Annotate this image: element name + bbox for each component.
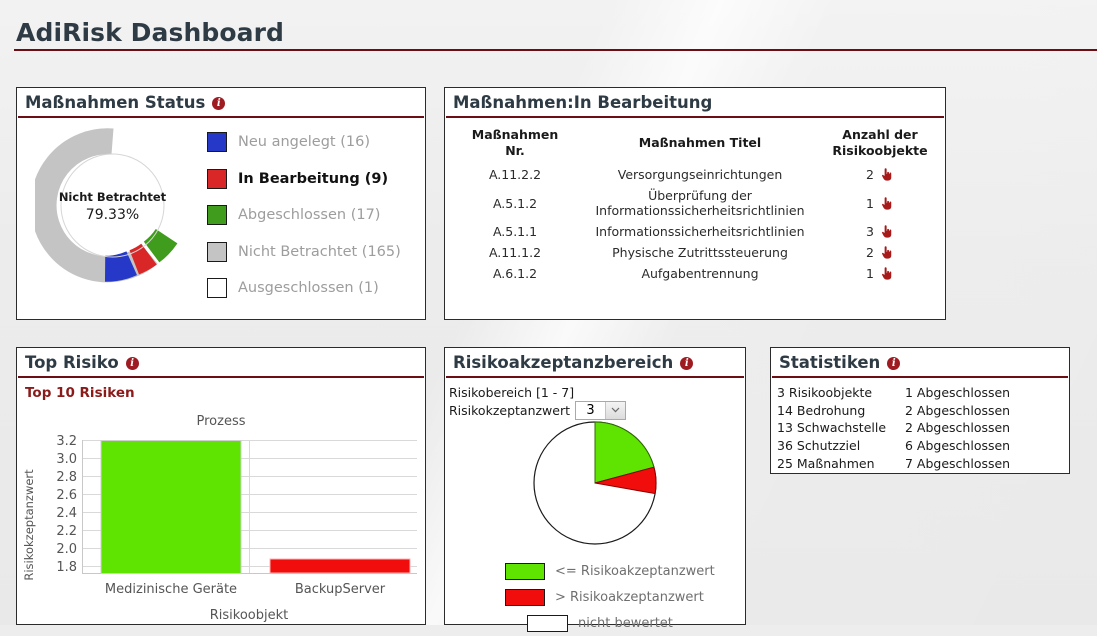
stats-left: 13 Schwachstelle <box>777 420 905 435</box>
info-icon[interactable]: i <box>126 357 139 370</box>
measures-table-head: Maßnahmen Nr. Maßnahmen Titel Anzahl der… <box>445 118 945 164</box>
stats-row-schutzziel: 36 Schutzziel 6 Abgeschlossen <box>777 437 1069 455</box>
bar-chart-ylabel: Risikokzeptanzwert <box>22 469 36 581</box>
column-header-line: Maßnahmen Titel <box>585 135 815 151</box>
xtick: BackupServer <box>295 582 386 597</box>
ytick: 2.2 <box>56 524 77 539</box>
cell-titel: Überprüfung der Informationssicherheitsr… <box>585 185 815 221</box>
bar-chart-xlabel: Risikoobjekt <box>210 608 289 623</box>
donut-segment-abgeschlossen[interactable] <box>152 236 167 252</box>
legend-item-le-akzeptanzwert[interactable]: <= Risikoakzeptanzwert <box>445 558 745 584</box>
ytick: 1.8 <box>56 560 77 575</box>
header-divider <box>14 49 1097 51</box>
risikoakzeptanzwert-row: Risikokzeptanzwert 3 <box>449 401 745 419</box>
cell-titel: Versorgungseinrichtungen <box>585 164 815 185</box>
stats-right: 6 Abgeschlossen <box>905 438 1010 453</box>
count-with-hand: 2 <box>866 167 894 182</box>
panel-massnahmen-in-bearbeitung: Maßnahmen:In Bearbeitung Maßnahmen Nr. M… <box>444 87 946 320</box>
ytick: 2.6 <box>56 488 77 503</box>
page-title: AdiRisk Dashboard <box>16 18 284 47</box>
legend-item-in-bearbeitung[interactable]: In Bearbeitung (9) <box>207 161 422 198</box>
ytick: 2.8 <box>56 470 77 485</box>
legend-swatch <box>505 589 545 606</box>
cell-nr: A.11.1.2 <box>445 242 585 263</box>
donut-svg <box>35 128 190 283</box>
cell-anzahl: 1 <box>815 263 945 284</box>
stats-left: 36 Schutzziel <box>777 438 905 453</box>
ytick: 2.4 <box>56 506 77 521</box>
panel-title-statistiken: Statistiken i <box>771 348 1069 376</box>
count-with-hand: 1 <box>866 196 894 211</box>
count-with-hand: 1 <box>866 266 894 281</box>
panel-title-text: Maßnahmen Status <box>25 93 205 112</box>
count-value: 2 <box>866 167 874 182</box>
info-icon[interactable]: i <box>887 357 900 370</box>
legend-label: nicht bewertet <box>578 616 673 631</box>
hand-pointer-icon[interactable] <box>879 245 894 260</box>
column-header-titel: Maßnahmen Titel <box>585 118 815 164</box>
count-value: 1 <box>866 266 874 281</box>
hand-pointer-icon[interactable] <box>879 266 894 281</box>
donut-segment-in-bearbeitung[interactable] <box>134 254 149 262</box>
risikobereich-row: Risikobereich [1 - 7] <box>449 383 745 401</box>
risikobereich-label: Risikobereich [1 - 7] <box>449 385 574 400</box>
legend-swatch <box>505 563 545 580</box>
legend-label: > Risikoakzeptanzwert <box>555 590 704 605</box>
legend-swatch <box>207 242 227 262</box>
bar-backupserver[interactable] <box>270 559 410 573</box>
panel-title-text: Top Risiko <box>25 353 119 372</box>
cell-anzahl: 3 <box>815 221 945 242</box>
cell-nr: A.5.1.1 <box>445 221 585 242</box>
stats-row-bedrohung: 14 Bedrohung 2 Abgeschlossen <box>777 402 1069 420</box>
stats-right: 7 Abgeschlossen <box>905 456 1010 471</box>
status-legend: Neu angelegt (16) In Bearbeitung (9) Abg… <box>207 124 422 307</box>
table-row[interactable]: A.11.2.2 Versorgungseinrichtungen 2 <box>445 164 945 185</box>
count-value: 2 <box>866 245 874 260</box>
panel-title-massnahmen-status: Maßnahmen Status i <box>17 88 425 116</box>
legend-swatch <box>207 278 227 298</box>
ytick: 3.2 <box>56 434 77 449</box>
column-header-line: Anzahl der <box>815 127 945 143</box>
table-row[interactable]: A.11.1.2 Physische Zutrittssteuerung 2 <box>445 242 945 263</box>
panel-title-massnahmen-in-bearbeitung: Maßnahmen:In Bearbeitung <box>445 88 945 116</box>
hand-pointer-icon[interactable] <box>879 196 894 211</box>
panel-risikoakzeptanzbereich: Risikoakzeptanzbereich i Risikobereich [… <box>444 347 746 625</box>
cell-anzahl: 2 <box>815 242 945 263</box>
table-row[interactable]: A.5.1.1 Informationssicherheitsrichtlini… <box>445 221 945 242</box>
table-header-row: Maßnahmen Nr. Maßnahmen Titel Anzahl der… <box>445 118 945 164</box>
count-value: 3 <box>866 224 874 239</box>
status-panel-body: Nicht Betrachtet 79.33% Neu angelegt (16… <box>17 118 425 313</box>
column-header-nr: Maßnahmen Nr. <box>445 118 585 164</box>
measures-table: Maßnahmen Nr. Maßnahmen Titel Anzahl der… <box>445 118 945 284</box>
legend-item-nicht-betrachtet[interactable]: Nicht Betrachtet (165) <box>207 234 422 271</box>
info-icon[interactable]: i <box>212 97 225 110</box>
column-header-line: Nr. <box>445 143 585 159</box>
bar-chart-yticks: 3.2 3.0 2.8 2.6 2.4 2.2 2.0 1.8 <box>56 434 77 575</box>
count-with-hand: 2 <box>866 245 894 260</box>
panel-title-text: Maßnahmen:In Bearbeitung <box>453 93 712 112</box>
panel-title-text: Statistiken <box>779 353 880 372</box>
hand-pointer-icon[interactable] <box>879 167 894 182</box>
bar-chart-title: Prozess <box>197 414 246 429</box>
legend-item-gt-akzeptanzwert[interactable]: > Risikoakzeptanzwert <box>445 584 745 610</box>
panel-title-text: Risikoakzeptanzbereich <box>453 353 673 372</box>
stats-left: 14 Bedrohung <box>777 403 905 418</box>
legend-label: Ausgeschlossen (1) <box>238 280 379 296</box>
column-header-line: Risikoobjekte <box>815 143 945 159</box>
legend-item-abgeschlossen[interactable]: Abgeschlossen (17) <box>207 197 422 234</box>
risikoakzeptanzwert-label: Risikokzeptanzwert <box>449 403 570 418</box>
cell-anzahl: 2 <box>815 164 945 185</box>
stats-right: 1 Abgeschlossen <box>905 385 1010 400</box>
legend-swatch <box>207 132 227 152</box>
accept-panel-body: Risikobereich [1 - 7] Risikokzeptanzwert… <box>445 378 745 623</box>
legend-swatch <box>207 205 227 225</box>
risikoakzeptanzwert-select[interactable]: 3 <box>575 401 626 420</box>
stats-right: 2 Abgeschlossen <box>905 420 1010 435</box>
column-header-anzahl: Anzahl der Risikoobjekte <box>815 118 945 164</box>
legend-swatch <box>527 615 568 632</box>
cell-anzahl: 1 <box>815 185 945 221</box>
cell-nr: A.5.1.2 <box>445 185 585 221</box>
top-risiko-subtitle: Top 10 Risiken <box>17 378 425 401</box>
stats-row-massnahmen: 25 Maßnahmen 7 Abgeschlossen <box>777 454 1069 472</box>
bar-medizinische-geraete[interactable] <box>101 441 241 574</box>
measures-table-body: A.11.2.2 Versorgungseinrichtungen 2 A.5.… <box>445 164 945 284</box>
dashboard-page: AdiRisk Dashboard Maßnahmen Status i <box>0 0 1097 625</box>
cell-titel: Physische Zutrittssteuerung <box>585 242 815 263</box>
legend-item-nicht-bewertet[interactable]: nicht bewertet <box>445 610 745 636</box>
stats-row-schwachstelle: 13 Schwachstelle 2 Abgeschlossen <box>777 419 1069 437</box>
panel-title-risikoakzeptanzbereich: Risikoakzeptanzbereich i <box>445 348 745 376</box>
bar-chart-svg: Prozess Risikokzeptanzwert <box>17 403 425 628</box>
ytick: 2.0 <box>56 542 77 557</box>
panel-top-risiko: Top Risiko i Top 10 Risiken Prozess Risi… <box>16 347 426 625</box>
stats-right: 2 Abgeschlossen <box>905 403 1010 418</box>
stats-left: 25 Maßnahmen <box>777 456 905 471</box>
cell-titel: Aufgabentrennung <box>585 263 815 284</box>
cell-nr: A.11.2.2 <box>445 164 585 185</box>
top-risiko-bar-chart: Prozess Risikokzeptanzwert <box>17 403 425 628</box>
panel-title-top-risiko: Top Risiko i <box>17 348 425 376</box>
ytick: 3.0 <box>56 452 77 467</box>
hand-pointer-icon[interactable] <box>879 224 894 239</box>
legend-label: Abgeschlossen (17) <box>238 207 380 223</box>
count-with-hand: 3 <box>866 224 894 239</box>
chevron-down-icon[interactable] <box>605 402 625 419</box>
count-value: 1 <box>866 196 874 211</box>
legend-label: Neu angelegt (16) <box>238 134 370 150</box>
legend-label: In Bearbeitung (9) <box>238 171 388 187</box>
acceptance-legend: <= Risikoakzeptanzwert > Risikoakzeptanz… <box>445 558 745 636</box>
info-icon[interactable]: i <box>680 357 693 370</box>
legend-label: <= Risikoakzeptanzwert <box>555 564 715 579</box>
cell-nr: A.6.1.2 <box>445 263 585 284</box>
table-row[interactable]: A.5.1.2 Überprüfung der Informationssich… <box>445 185 945 221</box>
status-donut-chart: Nicht Betrachtet 79.33% <box>35 128 190 283</box>
legend-label: Nicht Betrachtet (165) <box>238 244 401 260</box>
column-header-line: Maßnahmen <box>445 127 585 143</box>
legend-swatch <box>207 169 227 189</box>
statistiken-body: 3 Risikoobjekte 1 Abgeschlossen 14 Bedro… <box>771 378 1069 472</box>
donut-segment-neu-angelegt[interactable] <box>105 263 132 269</box>
select-value: 3 <box>576 402 605 419</box>
legend-item-neu-angelegt[interactable]: Neu angelegt (16) <box>207 124 422 161</box>
stats-row-risikoobjekte: 3 Risikoobjekte 1 Abgeschlossen <box>777 384 1069 402</box>
pie-svg <box>532 420 658 546</box>
panel-statistiken: Statistiken i 3 Risikoobjekte 1 Abgeschl… <box>770 347 1070 474</box>
table-row[interactable]: A.6.1.2 Aufgabentrennung 1 <box>445 263 945 284</box>
xtick: Medizinische Geräte <box>105 582 237 597</box>
panel-massnahmen-status: Maßnahmen Status i Nicht Betrachtet 7 <box>16 87 426 320</box>
stats-left: 3 Risikoobjekte <box>777 385 905 400</box>
legend-item-ausgeschlossen[interactable]: Ausgeschlossen (1) <box>207 270 422 307</box>
acceptance-pie-chart <box>532 420 658 546</box>
cell-titel: Informationssicherheitsrichtlinien <box>585 221 815 242</box>
